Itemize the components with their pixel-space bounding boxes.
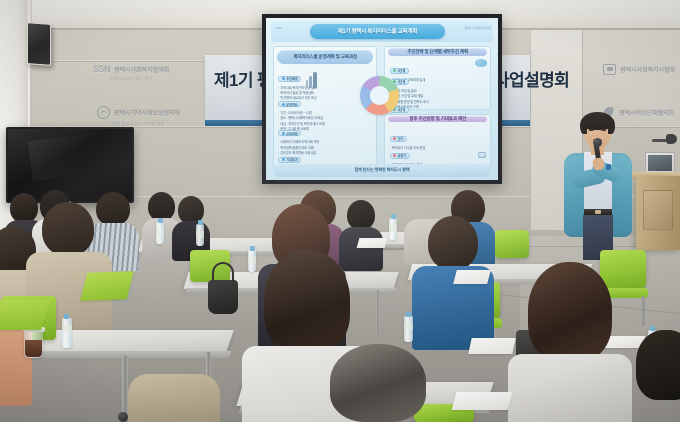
slide-title-pill: 제1기 평택시 복지리더스쿨 교육계획 (310, 24, 445, 39)
water-bottle (156, 222, 164, 244)
wall-panel-seam (530, 30, 531, 230)
banner-title-right: 사업설명회 (494, 66, 569, 91)
table-leg (376, 290, 379, 334)
cup-contents (25, 340, 42, 357)
presenter (560, 108, 636, 258)
water-bottle (62, 318, 72, 348)
slide-group-tag: 중장기 (390, 153, 410, 159)
green-folder (80, 271, 133, 301)
slide-column-right-bottom: 향후 추진방향 및 기대효과 제언 단기 복지리더 기수별 지속 운영 중장기 … (384, 114, 491, 169)
slide-group-tag: 추진배경 (278, 76, 301, 82)
slide-column-header: 향후 추진방향 및 기대효과 제언 (388, 116, 486, 122)
water-bottle (248, 250, 256, 272)
chair (600, 250, 646, 288)
presenter-hair-side (580, 118, 587, 134)
wall-logo-social-workers: 평택시사회복지사협회 (603, 64, 675, 75)
ssn-wordmark-icon: SSN (93, 64, 110, 74)
podium-monitor-screen (648, 155, 672, 171)
water-bottle (389, 218, 397, 240)
wall-logo-welfare-council: 평택시지역사회보장협의체 행복 함께 나누는 따뜻한 평택 (97, 106, 180, 127)
table-caster (118, 412, 128, 422)
handout-paper (452, 392, 513, 410)
lectern-panel (643, 190, 673, 230)
projection-screen: 2025 평택시사회복지협의회 제1기 평택시 복지리더스쿨 교육계획 복지리더… (266, 18, 498, 180)
handout-paper (468, 338, 515, 354)
water-bottle (404, 316, 413, 342)
wall-logo-name: 평택시지역사회보장협의체 (114, 108, 180, 117)
slide-title: 제1기 평택시 복지리더스쿨 교육계획 (310, 24, 445, 39)
wall-logo-sub: 행복 함께 나누는 따뜻한 평택 (97, 121, 180, 127)
microphone-head-icon (593, 138, 602, 147)
handbag-strap (212, 262, 234, 282)
handout-paper (453, 270, 491, 284)
slide-chart-graphic-icon (478, 152, 486, 158)
slide-column-right-top: 추진전략 및 단계별 세부추진 계획 1단계 수요조사 및 교육과정 설계 2단… (384, 46, 491, 111)
wall-logo-ssn: SSN 평택시사회복지협의회 행복하고 살기 좋은 평택 (93, 64, 169, 82)
water-bottle (196, 224, 204, 246)
slide-footer: 함께 만드는 행복한 복지도시 평택 (273, 164, 491, 177)
council-circle-icon (97, 106, 110, 119)
slide-group-tag: 단기 (390, 136, 407, 142)
projection-screen-frame: 2025 평택시사회복지협의회 제1기 평택시 복지리더스쿨 교육계획 복지리더… (262, 14, 502, 184)
wall-logo-name: 평택시사회복지사협회 (620, 65, 675, 74)
handbag (208, 280, 238, 314)
slide-people-graphic-icon (306, 71, 319, 88)
slide-column-header: 추진전략 및 단계별 세부추진 계획 (388, 48, 486, 56)
social-worker-square-icon (603, 64, 616, 75)
presenter-lapel-badge (606, 164, 611, 170)
slide-corner-left: 2025 (275, 26, 281, 30)
presenter-eye (601, 129, 606, 131)
slide-group-tag: 운영개요 (278, 101, 301, 107)
wall-speaker-icon (27, 22, 51, 66)
slide-corner-right: 평택시사회복지협의회 (464, 26, 491, 30)
slide-group-tag: 교육과정 (278, 130, 301, 136)
slide-group-tag: 기대효과 (278, 157, 301, 163)
handout-paper (357, 238, 388, 248)
presenter-eye (589, 129, 594, 131)
camera-icon (666, 134, 677, 144)
wall-logo-sub: 행복하고 살기 좋은 평택 (93, 76, 169, 82)
chair (495, 230, 529, 258)
slide-bullet: 지역사회 복지인력 양성 필요 (278, 86, 372, 91)
seminar-photograph: SSN 평택시사회복지협의회 행복하고 살기 좋은 평택 평택시지역사회보장협의… (0, 0, 680, 422)
presenter-hair-side (608, 118, 615, 134)
iced-coffee-cup (24, 330, 43, 358)
presenter-belt-buckle (595, 210, 601, 214)
slide-column-left: 복지리더스쿨 운영계획 및 교육과정 추진배경 지역사회 복지인력 양성 필요 … (273, 46, 377, 169)
chair-leg (642, 296, 645, 326)
slide-bullet: 사회복지 이해와 지역사회 복지 (278, 140, 372, 145)
slide-column-header: 복지리더스쿨 운영계획 및 교육과정 (277, 50, 373, 65)
lectern (636, 176, 680, 250)
tv-glare (28, 131, 119, 181)
wall-logo-name: 평택시사회복지협의회 (114, 65, 169, 74)
